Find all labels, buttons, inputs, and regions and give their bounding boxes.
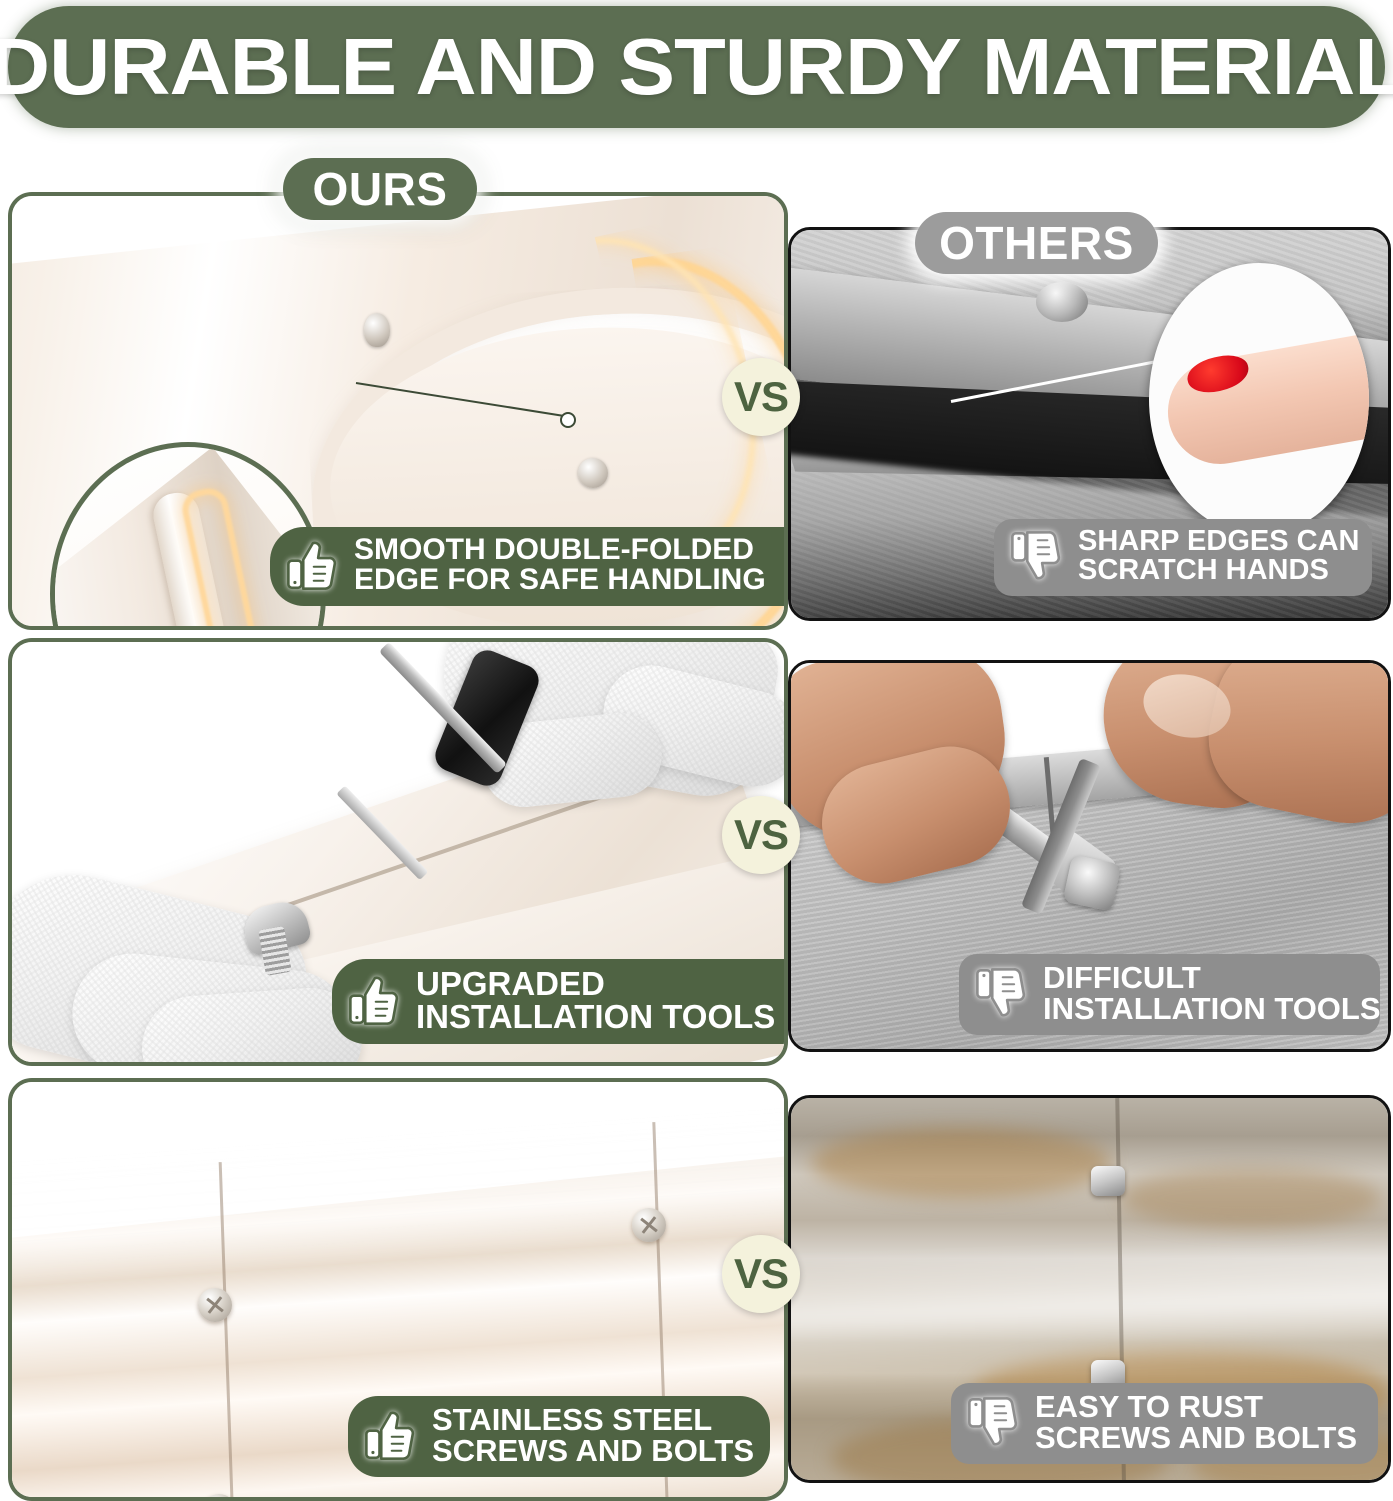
others-badge-2-line1: DIFFICULT (1043, 962, 1381, 994)
header-banner: DURABLE AND STURDY MATERIAL (8, 6, 1385, 128)
others-badge-3-line2: SCREWS AND BOLTS (1035, 1422, 1357, 1454)
others-label-text: OTHERS (939, 216, 1134, 270)
hex-bolt (1063, 854, 1122, 911)
vs-text: VS (734, 373, 788, 421)
ours-badge-3: STAINLESS STEEL SCREWS AND BOLTS (348, 1396, 770, 1477)
thumbs-down-icon (1008, 528, 1064, 584)
thumbs-up-icon (362, 1407, 418, 1463)
rusty-bolt (1091, 1166, 1125, 1196)
infographic-page: DURABLE AND STURDY MATERIAL OURS OTHERS (0, 0, 1393, 1500)
comparison-row-1-ours-card: SMOOTH DOUBLE-FOLDED EDGE FOR SAFE HANDL… (8, 192, 788, 630)
page-title: DURABLE AND STURDY MATERIAL (0, 27, 1393, 107)
others-badge-1-line1: SHARP EDGES CAN (1078, 527, 1359, 557)
thumbs-down-icon (973, 965, 1029, 1021)
others-badge-2: DIFFICULT INSTALLATION TOOLS (959, 954, 1380, 1035)
stainless-screw (198, 1288, 232, 1322)
comparison-row-3-ours-card: STAINLESS STEEL SCREWS AND BOLTS (8, 1078, 788, 1501)
vs-badge-row-2: VS (722, 796, 800, 874)
comparison-row-3-others-card: EASY TO RUST SCREWS AND BOLTS (788, 1095, 1391, 1483)
ours-badge-2: UPGRADED INSTALLATION TOOLS (332, 959, 788, 1044)
thumbs-down-icon (965, 1394, 1021, 1450)
others-badge-1-line2: SCRATCH HANDS (1078, 556, 1359, 586)
others-badge-1: SHARP EDGES CAN SCRATCH HANDS (994, 519, 1372, 596)
bleeding-finger-inset (1149, 263, 1369, 535)
ours-badge-2-line2: INSTALLATION TOOLS (416, 1000, 775, 1034)
stainless-screw (632, 1208, 666, 1242)
vs-text: VS (734, 811, 788, 859)
thumbs-up-icon (346, 972, 402, 1028)
ours-badge-1-line2: EDGE FOR SAFE HANDLING (354, 565, 766, 596)
ours-label-pill: OURS (283, 158, 477, 220)
ours-badge-1-line1: SMOOTH DOUBLE-FOLDED (354, 535, 766, 566)
others-label-pill: OTHERS (915, 212, 1158, 274)
thumbs-up-icon (284, 537, 340, 593)
comparison-row-2-others-card: DIFFICULT INSTALLATION TOOLS (788, 660, 1391, 1052)
vs-text: VS (734, 1250, 788, 1298)
vs-badge-row-1: VS (722, 358, 800, 436)
ours-badge-3-line1: STAINLESS STEEL (432, 1404, 754, 1436)
ours-label-text: OURS (313, 162, 448, 216)
others-badge-3-line1: EASY TO RUST (1035, 1391, 1357, 1423)
others-badge-3: EASY TO RUST SCREWS AND BOLTS (951, 1383, 1378, 1464)
ours-badge-2-line1: UPGRADED (416, 967, 775, 1001)
ours-badge-1: SMOOTH DOUBLE-FOLDED EDGE FOR SAFE HANDL… (270, 527, 788, 606)
others-badge-2-line2: INSTALLATION TOOLS (1043, 993, 1381, 1025)
comparison-row-2-ours-card: UPGRADED INSTALLATION TOOLS (8, 638, 788, 1066)
vs-badge-row-3: VS (722, 1235, 800, 1313)
comparison-row-1-others-card: SHARP EDGES CAN SCRATCH HANDS (788, 227, 1391, 621)
ours-badge-3-line2: SCREWS AND BOLTS (432, 1435, 754, 1467)
